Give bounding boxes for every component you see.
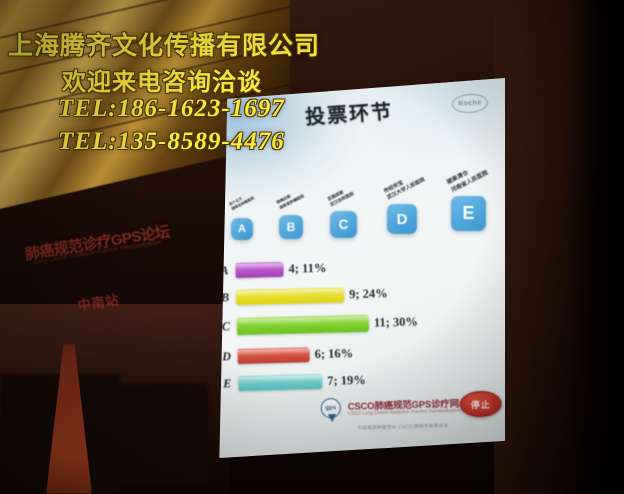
option-card-b[interactable]: 杨梅云新 湖南省肿瘤医院 B bbox=[279, 215, 303, 239]
option-card-row: 吴个正方 湖南总肿瘤医院 A 杨梅云新 湖南省肿瘤医院 B 百感成朝 武汉协 bbox=[217, 170, 505, 256]
stop-button[interactable]: 停止 bbox=[459, 390, 502, 417]
chart-bar-e bbox=[238, 373, 322, 390]
chart-value-e: 7; 19% bbox=[327, 372, 366, 388]
option-box-a[interactable]: A bbox=[231, 218, 253, 240]
banner-site: 中南站 bbox=[76, 289, 120, 314]
option-box-b[interactable]: B bbox=[279, 215, 303, 239]
overlay-phone-1: TEL:186-1623-1697 bbox=[58, 95, 285, 123]
chart-bar-b bbox=[236, 287, 344, 305]
option-caption-e: 硬果清仓 河南省人民医院 bbox=[445, 160, 489, 194]
chart-value-b: 9; 24% bbox=[349, 286, 388, 302]
overlay-welcome-text: 欢迎来电咨询洽谈 bbox=[62, 62, 262, 97]
overlay-phone-2: TEL:135-8589-4476 bbox=[58, 128, 285, 156]
chart-bar-a bbox=[235, 261, 283, 277]
chart-value-d: 6; 16% bbox=[314, 346, 353, 362]
chart-value-c: 11; 30% bbox=[374, 314, 418, 330]
chart-bar-d bbox=[237, 347, 309, 364]
chart-bar-c bbox=[237, 314, 369, 334]
option-card-a[interactable]: 吴个正方 湖南总肿瘤医院 A bbox=[231, 218, 253, 240]
option-caption-d: 传经宋宝 武汉大学人民医院 bbox=[383, 170, 426, 201]
chart-value-a: 4; 11% bbox=[288, 260, 326, 276]
option-box-c[interactable]: C bbox=[330, 211, 357, 238]
brand-logo: Roche bbox=[451, 93, 488, 114]
right-wall-shadow bbox=[566, 0, 624, 494]
option-caption-b: 杨梅云新 湖南省肿瘤医院 bbox=[276, 188, 306, 211]
option-caption-c: 百感成朝 武汉协和医院 bbox=[327, 186, 355, 208]
location-pin-icon: gps bbox=[321, 398, 344, 425]
stage-dark-panel-right bbox=[118, 384, 208, 484]
option-box-e[interactable]: E bbox=[451, 196, 486, 231]
option-card-e[interactable]: 硬果清仓 河南省人民医院 E bbox=[451, 196, 486, 231]
option-caption-a: 吴个正方 湖南总肿瘤医院 bbox=[228, 192, 255, 212]
photo-screenshot: 肺癌规范诊疗GPS论坛 Lung Cancer Guideline Practi… bbox=[0, 0, 624, 494]
option-card-d[interactable]: 传经宋宝 武汉大学人民医院 D bbox=[387, 204, 417, 234]
brand-logo-label: Roche bbox=[453, 94, 488, 113]
overlay-company-name: 上海腾齐文化传播有限公司 bbox=[8, 26, 320, 62]
slide-footer: gps CSCO肺癌规范GPS诊疗网 CSCO Lung Cancer Guid… bbox=[320, 390, 496, 439]
option-box-d[interactable]: D bbox=[387, 204, 417, 234]
footer-note: 中国临床肿瘤学会 CSCO 肺癌专家委员会 bbox=[357, 423, 448, 432]
vote-bar-chart: A 4; 11% B 9; 24% C 11; 30% D bbox=[213, 250, 507, 407]
slide-title: 投票环节 bbox=[304, 95, 394, 130]
option-card-c[interactable]: 百感成朝 武汉协和医院 C bbox=[330, 211, 357, 238]
chart-row-c: C 11; 30% bbox=[215, 306, 506, 339]
